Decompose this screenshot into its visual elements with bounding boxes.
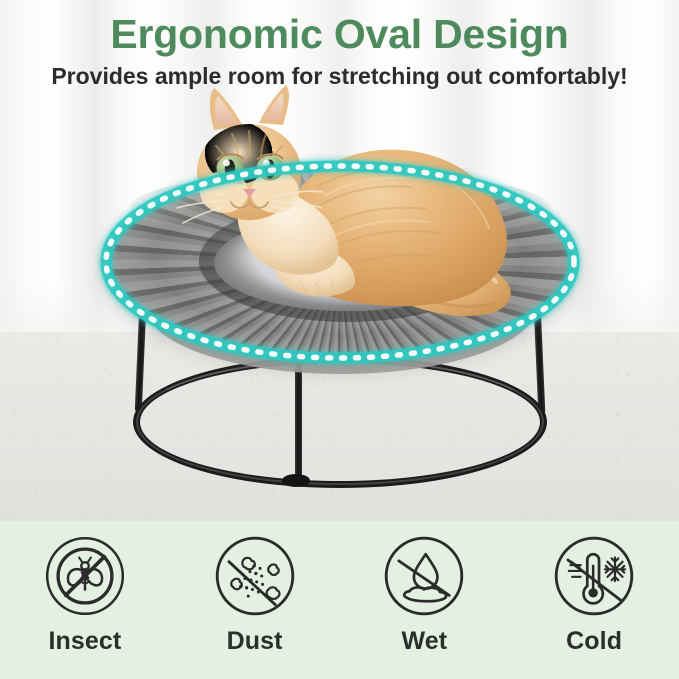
product-marketing-image: Ergonomic Oval Design Provides ample roo…: [0, 0, 679, 679]
feature-bar: Insect: [0, 521, 679, 679]
no-dust-icon: [213, 534, 297, 618]
no-cold-icon: [552, 534, 636, 618]
product-photo: Ergonomic Oval Design Provides ample roo…: [0, 0, 679, 521]
feature-dust: Dust: [177, 521, 332, 656]
feature-label-insect: Insect: [48, 627, 121, 656]
no-wet-icon: [382, 534, 466, 618]
feature-cold: Cold: [517, 521, 672, 656]
feature-label-wet: Wet: [402, 627, 448, 656]
feature-wet: Wet: [347, 521, 502, 656]
no-insect-icon: [43, 534, 127, 618]
headline: Ergonomic Oval Design: [0, 13, 679, 56]
feature-label-dust: Dust: [227, 627, 283, 656]
feature-insect: Insect: [7, 521, 162, 656]
feature-label-cold: Cold: [566, 627, 622, 656]
subheadline: Provides ample room for stretching out c…: [0, 63, 679, 89]
